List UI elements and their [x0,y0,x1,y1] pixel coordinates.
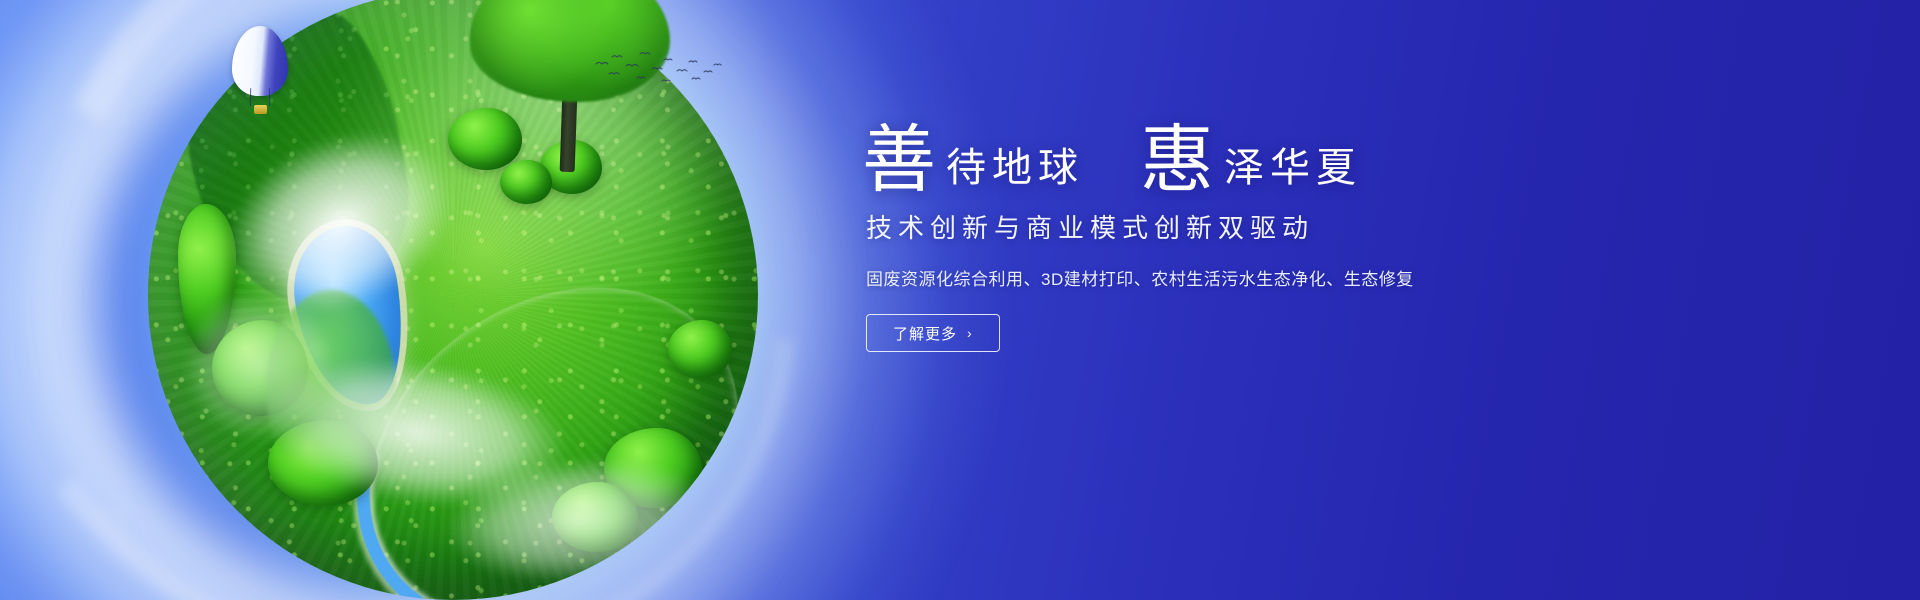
balloon-lines [250,88,270,106]
hero-banner: 善 待地球 惠 泽华夏 技术创新与商业模式创新双驱动 固废资源化综合利用、3D建… [0,0,1920,600]
headline-char-1: 善 [862,124,936,198]
page-title: 善 待地球 惠 泽华夏 [862,120,1622,194]
balloon-envelope [232,26,288,96]
page-subtitle: 技术创新与商业模式创新双驱动 [866,208,1622,245]
birds-flock-icon [592,48,727,88]
balloon-basket [254,105,267,114]
hot-air-balloon-icon [232,26,288,118]
tree-icon [552,482,638,552]
headline-rest-2: 泽华夏 [1214,148,1362,188]
tree-icon [500,160,552,204]
chevron-right-icon: › [967,325,973,341]
hero-content: 善 待地球 惠 泽华夏 技术创新与商业模式创新双驱动 固废资源化综合利用、3D建… [862,120,1622,352]
headline-rest-1: 待地球 [936,148,1084,188]
edge-tree-icon [266,290,396,490]
learn-more-label: 了解更多 [893,323,957,344]
tree-icon [668,320,732,378]
page-description: 固废资源化综合利用、3D建材打印、农村生活污水生态净化、生态修复 [866,265,1622,290]
headline-char-2: 惠 [1140,124,1214,198]
learn-more-button[interactable]: 了解更多 › [866,314,1000,352]
tree-icon [448,108,522,170]
